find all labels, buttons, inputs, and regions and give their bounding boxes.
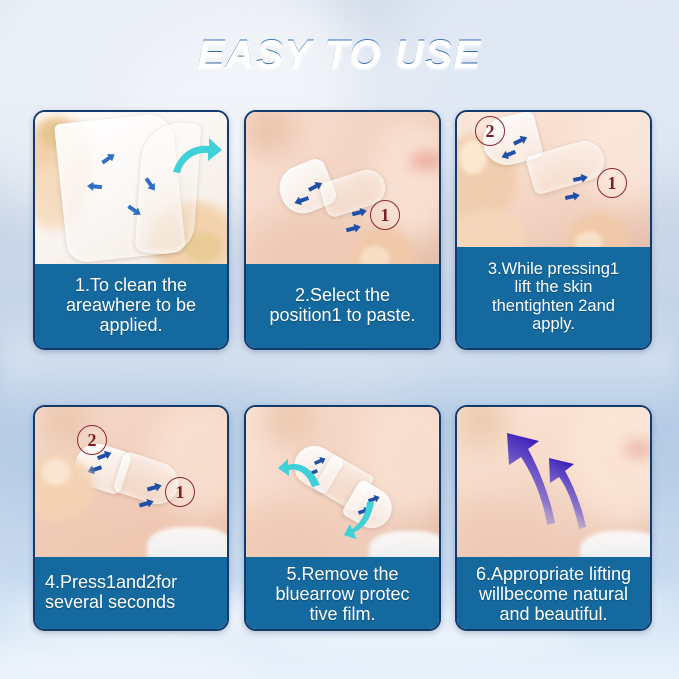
step-marker-2: 2	[475, 116, 505, 146]
step-card-1: 1.To clean the areawhere to be applied.	[33, 110, 229, 350]
step-marker-2: 2	[77, 425, 107, 455]
step-caption-6: 6.Appropriate lifting willbecome natural…	[457, 557, 650, 631]
lip-shape	[409, 152, 439, 170]
step-marker-1: 1	[370, 200, 400, 230]
fingernail-shape	[41, 459, 71, 485]
cyan-peel-arrow-icon	[342, 499, 378, 543]
step-caption-2: 2.Select the position1 to paste.	[246, 264, 439, 348]
step-caption-3: 3.While pressing1 lift the skin thentigh…	[457, 247, 650, 348]
fingernail-shape	[360, 246, 390, 264]
step-photo-2: 1	[246, 112, 439, 264]
cyan-peel-arrow-icon	[169, 136, 223, 176]
step-caption-5: 5.Remove the bluearrow protec tive film.	[246, 557, 439, 631]
step-photo-5	[246, 407, 439, 557]
clothing-shape	[580, 531, 650, 557]
purple-lift-arrow-icon	[545, 455, 589, 531]
page-title: EASY TO USE	[0, 32, 679, 77]
step-photo-3: 2 1	[457, 112, 650, 247]
step-card-3: 2 1 3.While pressing1 lift the skin then…	[455, 110, 652, 350]
step-marker-1: 1	[165, 477, 195, 507]
step-photo-6	[457, 407, 650, 557]
clothing-shape	[369, 531, 439, 557]
step-marker-1: 1	[597, 168, 627, 198]
step-caption-4: 4.Press1and2for several seconds	[35, 557, 227, 629]
step-card-6: 6.Appropriate lifting willbecome natural…	[455, 405, 652, 631]
step-photo-1	[35, 112, 227, 264]
cyan-peel-arrow-icon	[278, 459, 322, 489]
step-card-5: 5.Remove the bluearrow protec tive film.	[244, 405, 441, 631]
fingernail-shape	[575, 231, 603, 247]
step-card-4: 2 1 4.Press1and2for several seconds	[33, 405, 229, 631]
step-photo-4: 2 1	[35, 407, 227, 557]
clothing-shape	[147, 527, 227, 557]
lip-shape	[624, 441, 650, 457]
step-caption-1: 1.To clean the areawhere to be applied.	[35, 264, 227, 348]
step-card-2: 1 2.Select the position1 to paste.	[244, 110, 441, 350]
